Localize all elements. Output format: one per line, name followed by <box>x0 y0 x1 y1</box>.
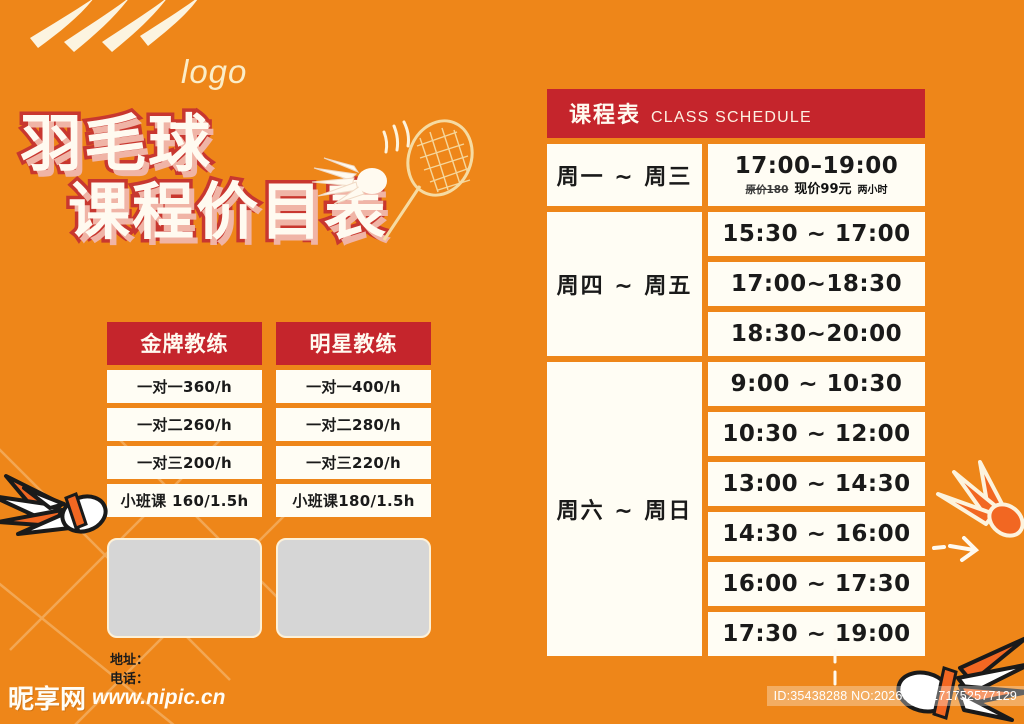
pricing-tables: 金牌教练 一对一360/h 一对二260/h 一对三200/h 小班课 160/… <box>107 322 431 517</box>
price-header: 金牌教练 <box>107 322 262 365</box>
price-item: 小班课180/1.5h <box>276 484 431 517</box>
schedule-title-en: CLASS SCHEDULE <box>651 109 812 127</box>
image-id-tag: ID:35438288 NO:20260410171752577129 <box>767 686 1024 706</box>
price-item: 一对二260/h <box>107 408 262 441</box>
price-column-star: 明星教练 一对一400/h 一对二280/h 一对三220/h 小班课180/1… <box>276 322 431 517</box>
schedule-slot: 16:00 ~ 17:30 <box>708 562 925 606</box>
schedule-slot-column: 9:00 ~ 10:30 10:30 ~ 12:00 13:00 ~ 14:30… <box>708 362 925 656</box>
schedule-slot: 10:30 ~ 12:00 <box>708 412 925 456</box>
promo-old-price: 原价180 <box>745 182 788 197</box>
schedule-slot-time: 17:00–19:00 <box>708 153 925 179</box>
shuttlecock-bottom-right-icon <box>880 634 1024 724</box>
watermark-url: www.nipic.cn <box>92 686 225 710</box>
qr-placeholder-right <box>276 538 431 638</box>
schedule-slot: 13:00 ~ 14:30 <box>708 462 925 506</box>
shuttlecock-left-icon <box>0 458 118 548</box>
schedule-slot: 15:30 ~ 17:00 <box>708 212 925 256</box>
schedule-row: 周六 ~ 周日 9:00 ~ 10:30 10:30 ~ 12:00 13:00… <box>547 362 925 656</box>
price-column-gold: 金牌教练 一对一360/h 一对二260/h 一对三200/h 小班课 160/… <box>107 322 262 517</box>
address-label: 地址： <box>110 652 149 671</box>
schedule-slot: 9:00 ~ 10:30 <box>708 362 925 406</box>
schedule-header: 课程表 CLASS SCHEDULE <box>547 89 925 138</box>
schedule-slot: 17:00–19:00 原价180 现价99元 两小时 <box>708 144 925 206</box>
promo-unit: 两小时 <box>858 181 888 196</box>
price-item: 一对二280/h <box>276 408 431 441</box>
schedule-slot: 17:00~18:30 <box>708 262 925 306</box>
schedule-slot-column: 17:00–19:00 原价180 现价99元 两小时 <box>708 144 925 206</box>
schedule-row: 周一 ~ 周三 17:00–19:00 原价180 现价99元 两小时 <box>547 144 925 206</box>
schedule-day-label: 周一 ~ 周三 <box>547 144 702 206</box>
racket-icon <box>372 118 482 248</box>
qr-placeholder-left <box>107 538 262 638</box>
promo-line: 原价180 现价99元 两小时 <box>708 178 925 197</box>
shuttlecock-right-icon <box>932 458 1024 548</box>
price-item: 小班课 160/1.5h <box>107 484 262 517</box>
class-schedule-table: 课程表 CLASS SCHEDULE 周一 ~ 周三 17:00–19:00 原… <box>542 84 930 661</box>
poster-canvas: logo 羽毛球 课程价目表 <box>0 0 1024 724</box>
schedule-title-cn: 课程表 <box>569 97 641 129</box>
price-header: 明星教练 <box>276 322 431 365</box>
schedule-slot: 14:30 ~ 16:00 <box>708 512 925 556</box>
watermark-cn: 昵享网 <box>8 679 86 716</box>
logo-text: logo <box>181 53 247 91</box>
watermark: 昵享网 www.nipic.cn <box>8 679 225 716</box>
schedule-row: 周四 ~ 周五 15:30 ~ 17:00 17:00~18:30 18:30~… <box>547 212 925 356</box>
price-item: 一对一360/h <box>107 370 262 403</box>
price-item: 一对三220/h <box>276 446 431 479</box>
price-item: 一对三200/h <box>107 446 262 479</box>
promo-new-price: 现价99元 <box>794 178 851 197</box>
schedule-day-label: 周六 ~ 周日 <box>547 362 702 656</box>
arrow-icon <box>932 536 980 564</box>
qr-placeholder-row <box>107 538 431 638</box>
schedule-day-label: 周四 ~ 周五 <box>547 212 702 356</box>
price-item: 一对一400/h <box>276 370 431 403</box>
schedule-slot-column: 15:30 ~ 17:00 17:00~18:30 18:30~20:00 <box>708 212 925 356</box>
schedule-slot: 18:30~20:00 <box>708 312 925 356</box>
